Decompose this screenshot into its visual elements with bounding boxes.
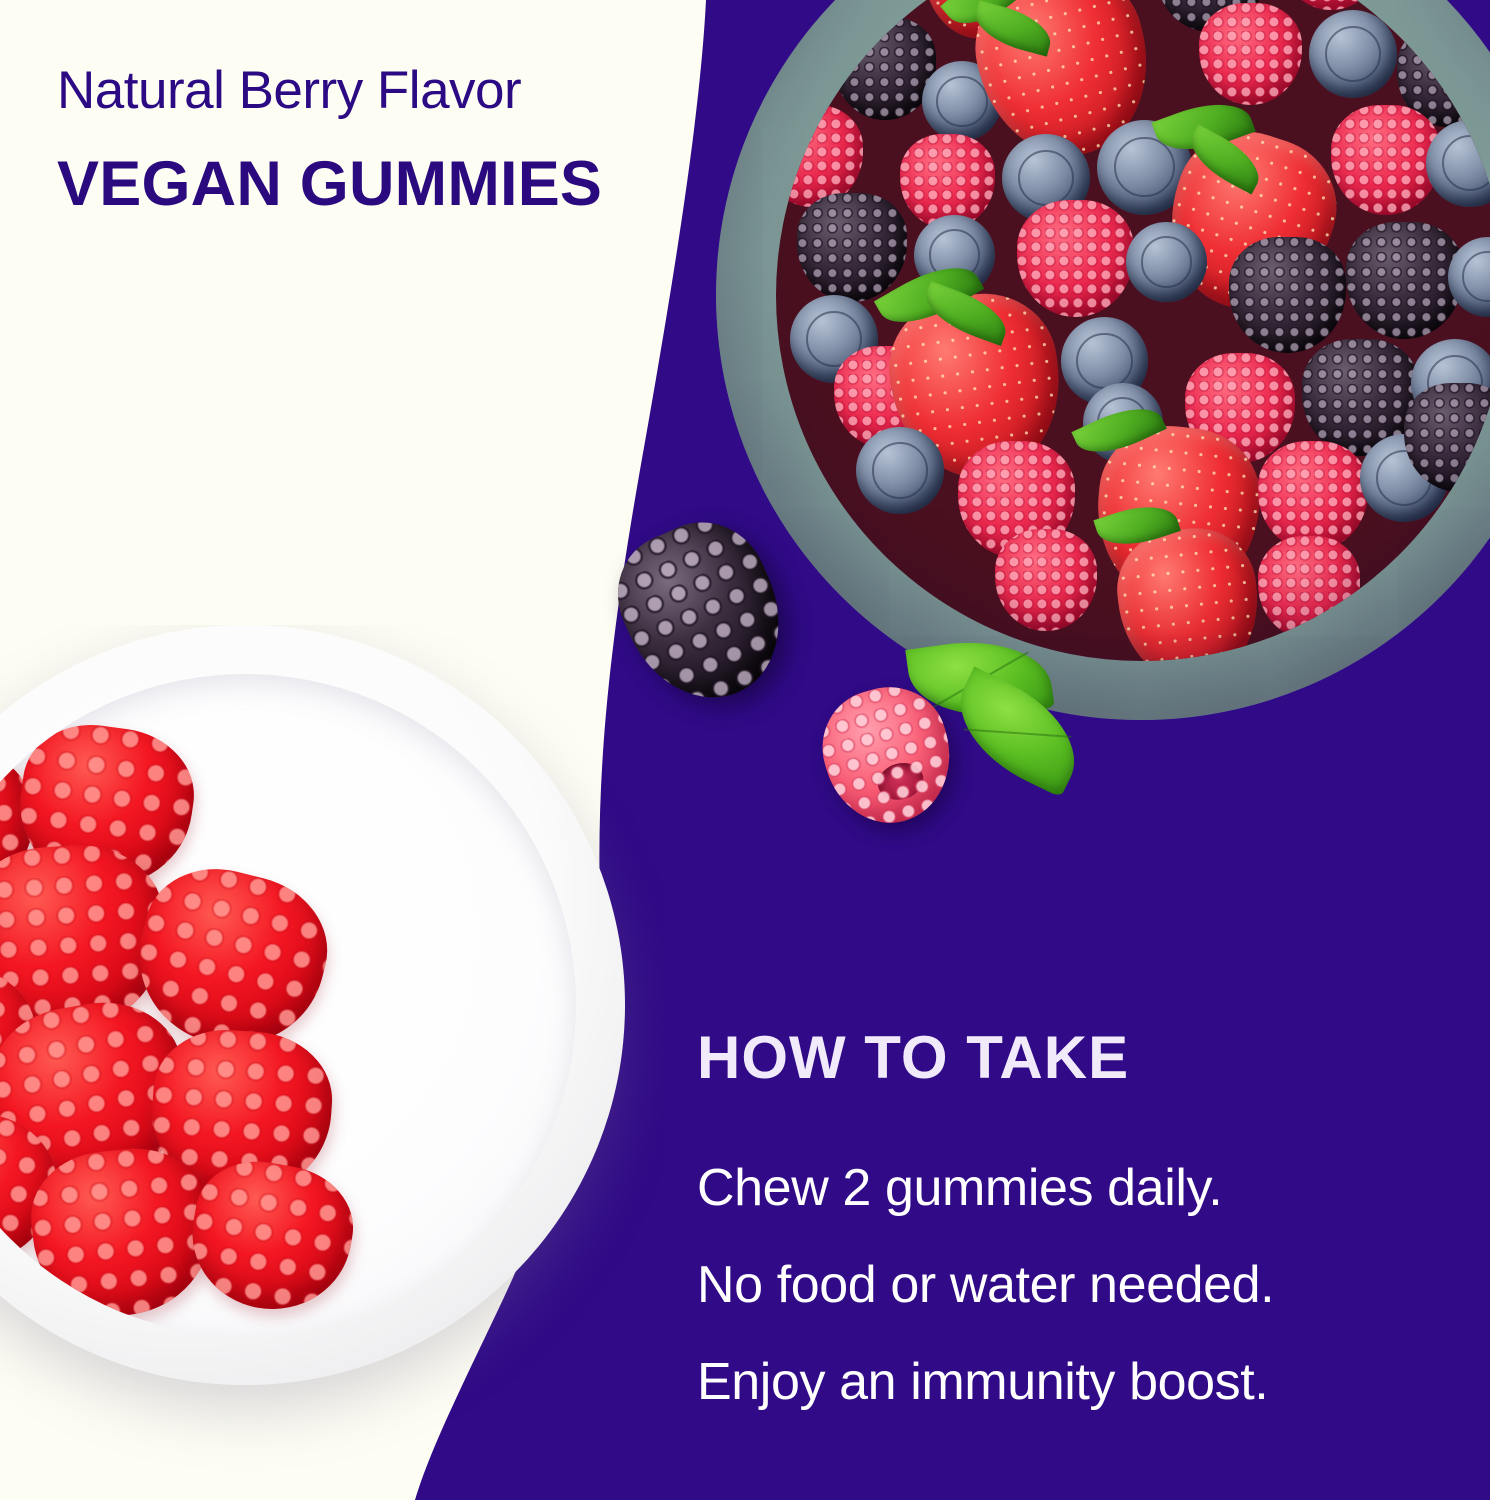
product-marketing-poster: Natural Berry Flavor VEGAN GUMMIES HOW T… <box>0 0 1490 1500</box>
kicker-text: Natural Berry Flavor <box>57 62 521 119</box>
how-to-take-line: Chew 2 gummies daily. <box>697 1162 1274 1214</box>
white-bowl-interior <box>0 674 576 1335</box>
how-to-take-line: No food or water needed. <box>697 1259 1274 1311</box>
gummy <box>25 1142 220 1325</box>
how-to-take-list: Chew 2 gummies daily. No food or water n… <box>697 1162 1274 1408</box>
page-title: VEGAN GUMMIES <box>57 150 602 218</box>
floating-raspberry-with-leaves <box>815 640 1145 870</box>
how-to-take-line: Enjoy an immunity boost. <box>697 1356 1274 1408</box>
red-gummies-white-bowl-photo <box>0 625 665 1500</box>
white-bowl <box>0 625 625 1385</box>
how-to-take-heading: HOW TO TAKE <box>697 1026 1129 1089</box>
